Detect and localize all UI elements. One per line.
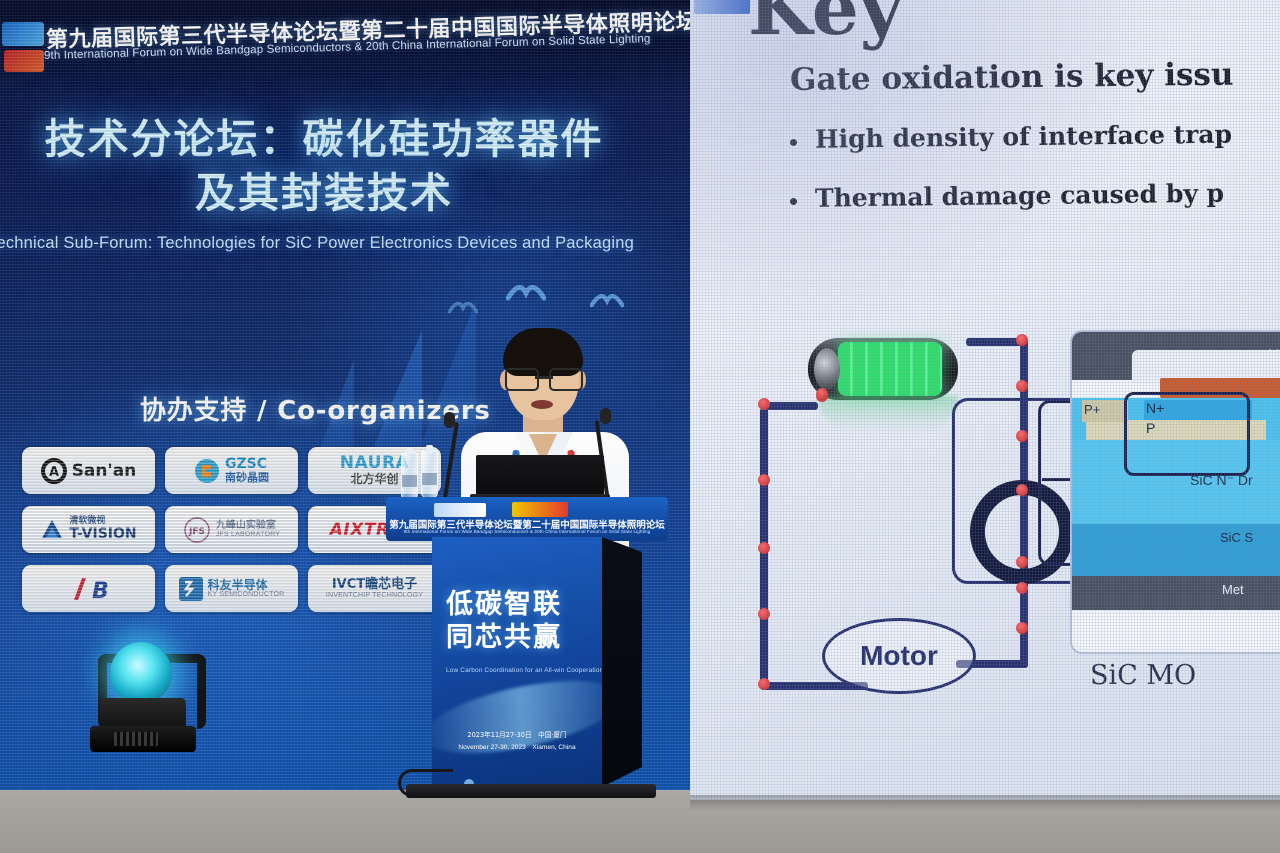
circuit-node bbox=[758, 474, 770, 486]
podium-slogan-line1: 低碳智联 bbox=[446, 589, 596, 622]
event-logo-primary-icon bbox=[2, 22, 44, 46]
sponsor-text: IVCT瞻芯电子 INVENTCHIP TECHNOLOGY bbox=[326, 578, 423, 599]
podium-wave-graphic bbox=[432, 667, 602, 767]
circuit-node bbox=[1016, 380, 1028, 392]
slide-bullet-list: High density of interface trap Thermal d… bbox=[790, 125, 1280, 243]
screen-floor-shadow bbox=[690, 795, 1280, 811]
water-bottle bbox=[421, 450, 438, 498]
coorganizers-heading: 协办支持 / Co-organizers bbox=[140, 390, 491, 427]
podium-base-plate bbox=[406, 784, 656, 798]
circuit-node bbox=[816, 388, 828, 400]
seagull-icon bbox=[506, 283, 546, 301]
circuit-node bbox=[1016, 556, 1028, 568]
mosfet-label-drift: SiC N⁻ Dr bbox=[1190, 472, 1253, 489]
podium-front-panel: 低碳智联 同芯共赢 Low Carbon Coordination for an… bbox=[432, 537, 602, 795]
sanan-circle-icon: A bbox=[41, 458, 67, 484]
sponsor-name-cn: 南砂晶圆 bbox=[225, 472, 269, 484]
light-vent-grill bbox=[114, 732, 158, 746]
sponsor-text: 九峰山实验室 JFS LABORATORY bbox=[216, 521, 280, 539]
svg-text:JFS: JFS bbox=[188, 527, 205, 537]
sponsor-logo-gzsc: GZSC 南砂晶圆 bbox=[165, 447, 298, 494]
slide-bullet-item: High density of interface trap bbox=[790, 118, 1280, 154]
forum-title-line1: 技术分论坛：碳化硅功率器件 bbox=[24, 112, 624, 166]
circuit-node bbox=[758, 608, 770, 620]
sponsor-name-cn: 清软微视 bbox=[69, 517, 136, 526]
svg-text:A: A bbox=[49, 465, 59, 480]
sponsor-name: San'an bbox=[72, 461, 137, 481]
podium-header-en: 9th International Forum on Wide Bandgap … bbox=[386, 529, 668, 534]
podium-date-cn: 2023年11月27-30日 中国·厦门 bbox=[432, 729, 602, 739]
battery-icon bbox=[808, 330, 966, 420]
mosfet-label-metal-top: Met bbox=[1268, 346, 1280, 362]
sponsor-text: 清软微视 T-VISION bbox=[69, 517, 136, 541]
bullet-dot-icon bbox=[790, 198, 797, 205]
bullet-dot-icon bbox=[790, 139, 797, 146]
podium: 第九届国际第三代半导体论坛暨第二十届中国国际半导体照明论坛 9th Intern… bbox=[432, 497, 622, 797]
podium-header-panel: 第九届国际第三代半导体论坛暨第二十届中国国际半导体照明论坛 9th Intern… bbox=[386, 497, 668, 541]
mosfet-metal-bottom-layer bbox=[1072, 576, 1280, 610]
mosfet-label-p-plus: P+ bbox=[1084, 402, 1100, 417]
sponsor-text: 科友半导体 KY SEMICONDUCTOR bbox=[208, 579, 285, 599]
mosfet-label-substrate: SiC S bbox=[1220, 530, 1253, 545]
tvision-triangle-icon bbox=[40, 518, 64, 542]
conference-photo: 第九届国际第三代半导体论坛暨第二十届中国国际半导体照明论坛 9th Intern… bbox=[0, 0, 1280, 853]
podium-slogan-line2: 同芯共赢 bbox=[446, 622, 596, 655]
sponsor-name-cn: IVCT瞻芯电子 bbox=[332, 578, 417, 592]
podium-logo-row bbox=[434, 502, 568, 517]
sponsor-name: NAURA bbox=[340, 455, 409, 473]
forum-title: 技术分论坛：碳化硅功率器件 及其封装技术 bbox=[24, 112, 624, 220]
sponsor-name: INVENTCHIP TECHNOLOGY bbox=[326, 592, 423, 599]
laptop-screen bbox=[476, 455, 604, 497]
sponsor-logo-ky-semiconductor: 科友半导体 KY SEMICONDUCTOR bbox=[165, 565, 298, 612]
microphone-head-icon bbox=[444, 412, 455, 428]
ky-mark-icon bbox=[179, 577, 203, 601]
sponsor-logo-b: B bbox=[22, 565, 155, 612]
battery-charge-fill bbox=[838, 342, 942, 396]
podium-slogan-en: Low Carbon Coordination for an All-win C… bbox=[446, 667, 598, 674]
speaker-glasses-icon bbox=[505, 368, 583, 388]
event-logo-secondary-icon bbox=[4, 50, 44, 72]
microphone-head-icon bbox=[600, 408, 611, 424]
podium-side-panel bbox=[602, 537, 642, 787]
sponsor-name-cn: 北方华创 bbox=[350, 473, 398, 486]
sponsor-name-cn: 九峰山实验室 bbox=[216, 521, 280, 532]
jfs-ring-icon: JFS bbox=[183, 516, 211, 544]
sponsor-text: NAURA 北方华创 bbox=[340, 455, 409, 485]
circuit-node bbox=[758, 678, 770, 690]
seagull-icon bbox=[590, 292, 624, 308]
event-logo-badges bbox=[2, 22, 48, 78]
circuit-node bbox=[1016, 430, 1028, 442]
stage-moving-head-light bbox=[84, 636, 202, 758]
mosfet-caption: SiC MO bbox=[1090, 660, 1196, 691]
sponsor-name: GZSC bbox=[225, 457, 269, 472]
slide-heading: Gate oxidation is key issu bbox=[790, 57, 1234, 98]
sponsor-name: T-VISION bbox=[69, 527, 136, 542]
projection-screen: Key Gate oxidation is key issu High dens… bbox=[690, 0, 1280, 800]
forum-subtitle-en: Technical Sub-Forum: Technologies for Si… bbox=[0, 234, 628, 253]
circuit-node bbox=[1016, 622, 1028, 634]
svg-text:B: B bbox=[92, 579, 109, 604]
circuit-node bbox=[1016, 582, 1028, 594]
sponsor-text: GZSC 南砂晶圆 bbox=[225, 457, 269, 483]
podium-date-block: 2023年11月27-30日 中国·厦门 November 27-30, 202… bbox=[432, 729, 602, 751]
sponsor-logo-sanan: A San'an bbox=[22, 447, 155, 494]
battery-motor-circuit-diagram: Motor bbox=[760, 330, 1060, 710]
bullet-text: Thermal damage caused by p bbox=[815, 179, 1224, 213]
mosfet-label-n-plus: N+ bbox=[1146, 400, 1164, 416]
podium-date-en: November 27-30, 2023 Xiamen, China bbox=[432, 741, 602, 751]
podium-logo-primary-icon bbox=[434, 503, 486, 517]
sponsor-logo-grid: A San'an GZSC 南砂晶圆 NAURA bbox=[22, 447, 442, 624]
sic-mosfet-cross-section: P+ N+ P SiC N⁻ Dr SiC S Met Met bbox=[1070, 330, 1280, 654]
speaker-mouth bbox=[531, 400, 553, 409]
sponsor-name: KY SEMICONDUCTOR bbox=[208, 591, 285, 598]
sponsor-row: B 科友半导体 KY SEMICONDUCTOR IVCT瞻芯电子 I bbox=[22, 565, 442, 612]
light-lens-icon bbox=[110, 642, 172, 704]
circuit-node bbox=[758, 398, 770, 410]
gzsc-mark-icon bbox=[194, 458, 220, 484]
motor-symbol: Motor bbox=[822, 618, 976, 694]
battery-terminal bbox=[814, 348, 840, 390]
sponsor-name-cn: 科友半导体 bbox=[208, 579, 285, 592]
sponsor-row: A San'an GZSC 南砂晶圆 NAURA bbox=[22, 447, 442, 494]
mosfet-label-p-body: P bbox=[1146, 420, 1155, 436]
circuit-node bbox=[1016, 334, 1028, 346]
slide-bullet-item: Thermal damage caused by p bbox=[790, 177, 1280, 213]
podium-logo-secondary-icon bbox=[512, 502, 568, 517]
forum-title-line2: 及其封装技术 bbox=[24, 166, 624, 220]
podium-slogan: 低碳智联 同芯共赢 bbox=[446, 589, 596, 655]
battery-reflection bbox=[818, 396, 958, 430]
motor-label: Motor bbox=[860, 640, 938, 672]
sponsor-logo-jfs: JFS 九峰山实验室 JFS LABORATORY bbox=[165, 506, 298, 553]
sponsor-logo-inventchip: IVCT瞻芯电子 INVENTCHIP TECHNOLOGY bbox=[308, 565, 441, 612]
circuit-node bbox=[1016, 484, 1028, 496]
sponsor-logo-tvision: 清软微视 T-VISION bbox=[22, 506, 155, 553]
sponsor-row: 清软微视 T-VISION JFS 九峰山实验室 JFS LABORATORY … bbox=[22, 506, 442, 553]
mosfet-label-metal-bottom: Met bbox=[1222, 582, 1244, 597]
circuit-node bbox=[758, 542, 770, 554]
mosfet-cell-highlight-box bbox=[1124, 392, 1250, 476]
slide-logo-bar-icon bbox=[694, 0, 750, 14]
sponsor-name: JFS LABORATORY bbox=[216, 531, 280, 538]
b-mark-icon: B bbox=[68, 574, 110, 604]
water-bottle bbox=[401, 452, 418, 500]
bullet-text: High density of interface trap bbox=[815, 120, 1232, 154]
slide-logo-word: Key bbox=[748, 0, 904, 52]
